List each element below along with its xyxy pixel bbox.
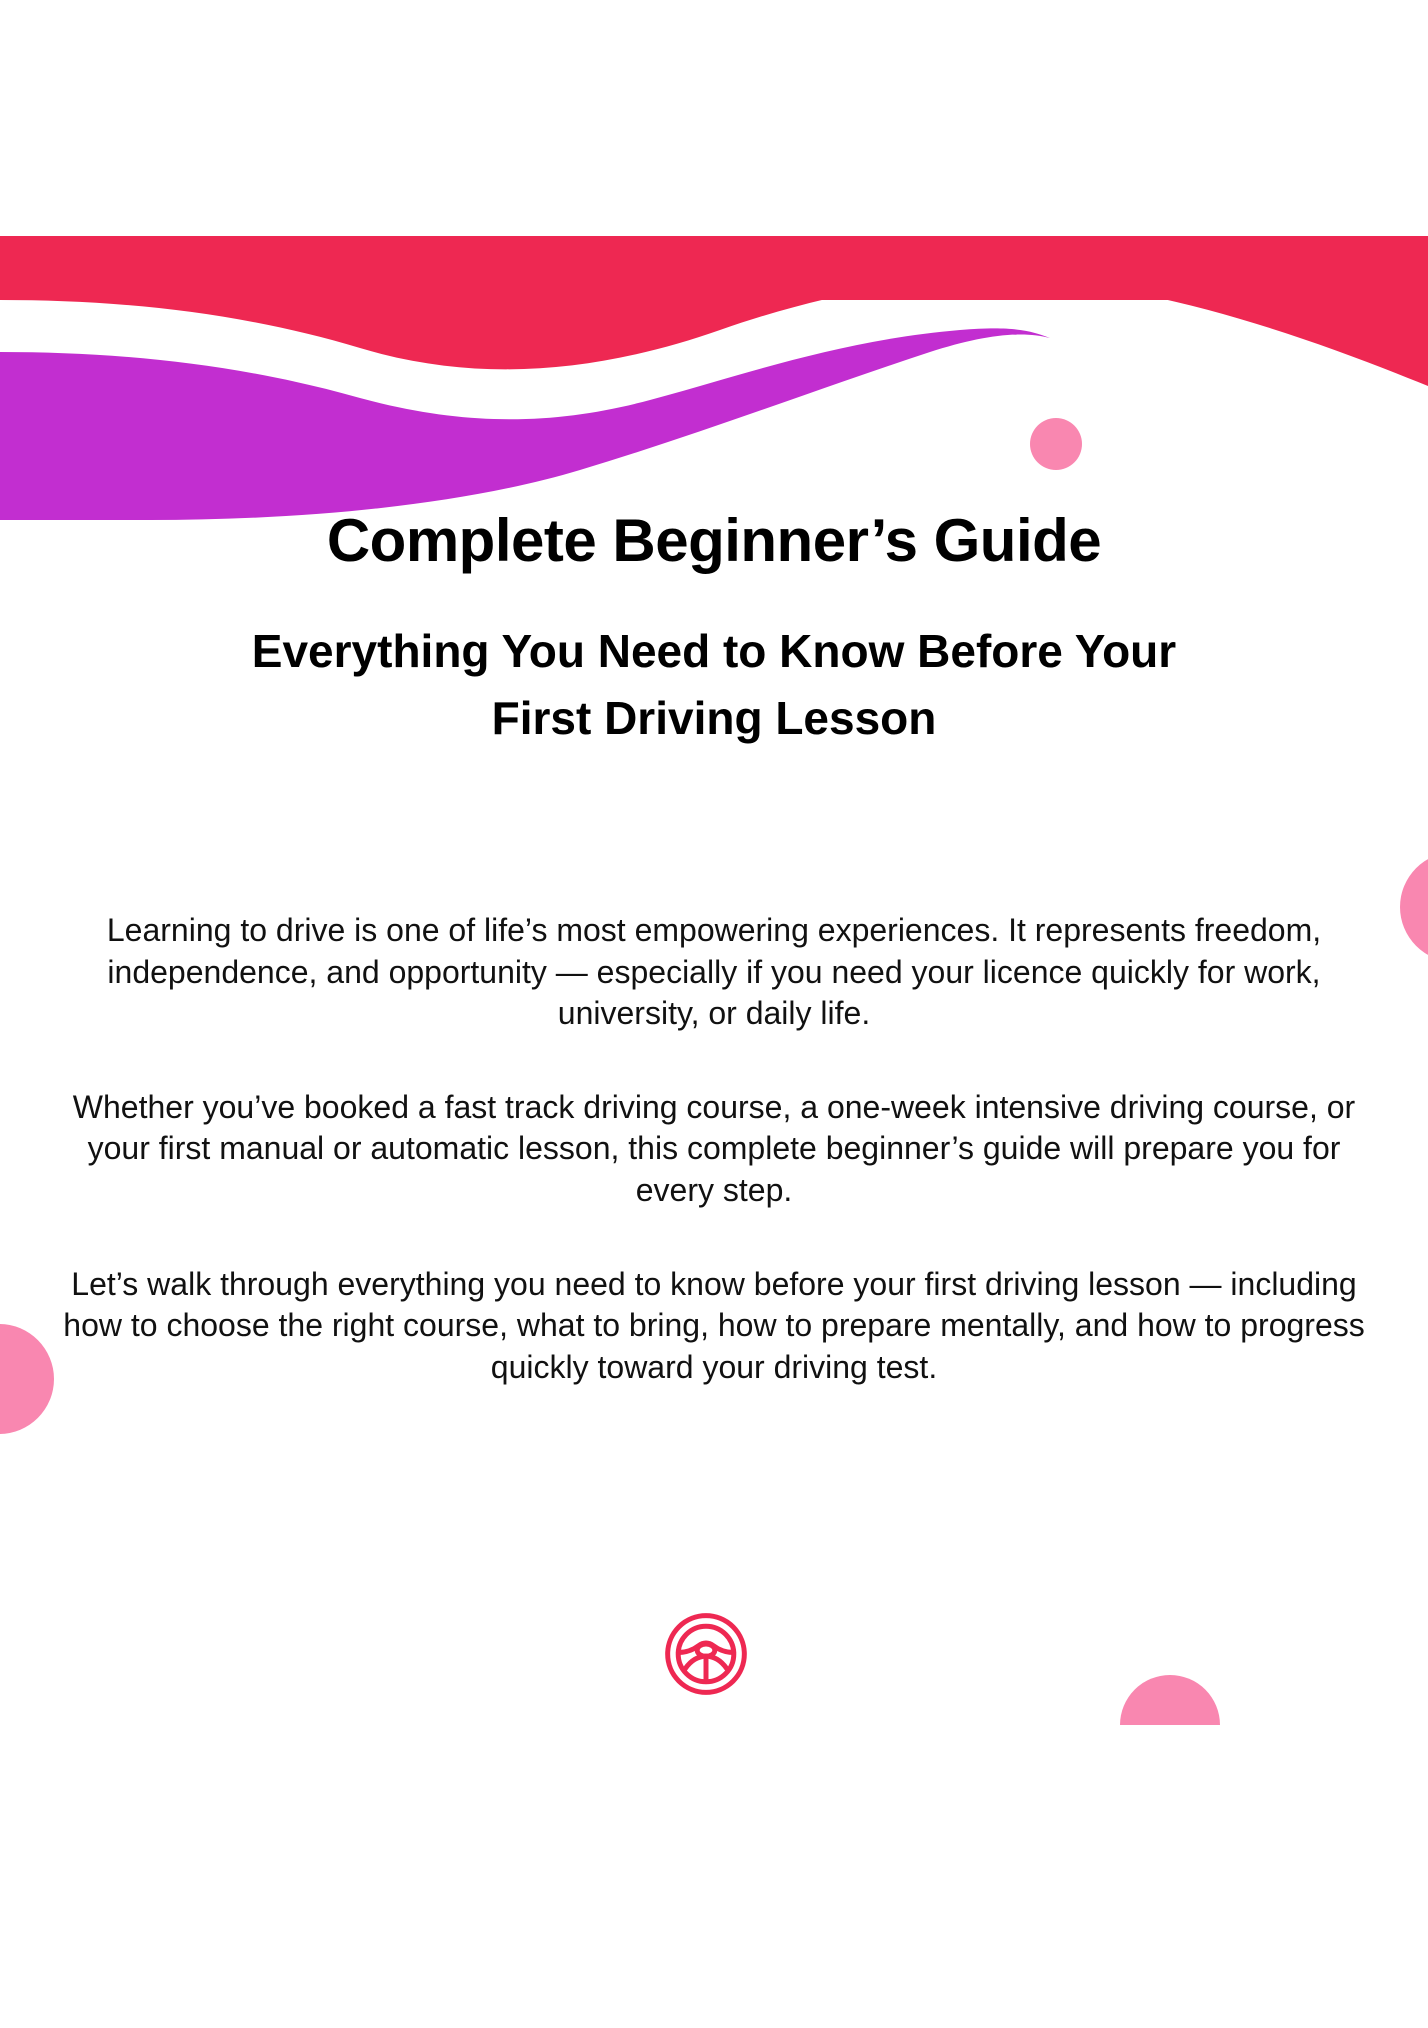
decorative-circle-left-edge (0, 1324, 54, 1434)
steering-wheel-icon (660, 1608, 752, 1700)
decorative-circle-top-right (1030, 418, 1082, 470)
page-subtitle: Everything You Need to Know Before Your … (214, 618, 1214, 751)
paragraph-2: Whether you’ve booked a fast track drivi… (54, 1087, 1374, 1212)
intro-body-text: Learning to drive is one of life’s most … (54, 910, 1374, 1388)
decorative-dome-bottom-right (1120, 1675, 1220, 1725)
paragraph-1: Learning to drive is one of life’s most … (54, 910, 1374, 1035)
steering-wheel-glyph (660, 1608, 752, 1700)
decorative-wave-banner (0, 0, 1428, 520)
guide-cover-page: Complete Beginner’s Guide Everything You… (0, 0, 1428, 2028)
wave-svg (0, 0, 1428, 520)
crimson-wave-shape (0, 236, 1428, 386)
paragraph-3: Let’s walk through everything you need t… (54, 1264, 1374, 1389)
page-title: Complete Beginner’s Guide (0, 508, 1428, 574)
purple-wave-shape (0, 328, 1050, 520)
decorative-circle-right-edge (1400, 852, 1428, 962)
